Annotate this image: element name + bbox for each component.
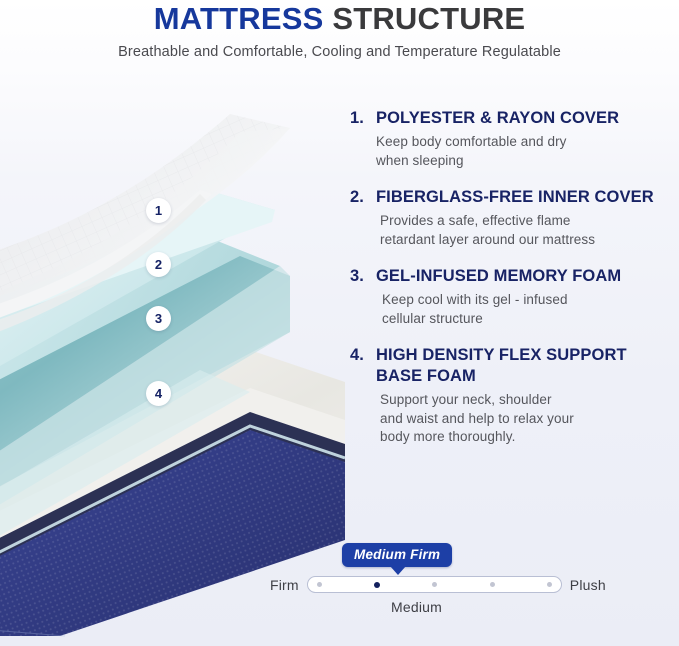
feature-title-3: GEL-INFUSED MEMORY FOAM bbox=[376, 266, 670, 287]
feature-desc-line: and waist and help to relax your bbox=[380, 410, 670, 429]
page-subtitle: Breathable and Comfortable, Cooling and … bbox=[0, 37, 679, 60]
firmness-step-2[interactable] bbox=[374, 582, 380, 588]
firmness-badge-pointer-icon bbox=[390, 566, 406, 575]
feature-title-2: FIBERGLASS-FREE INNER COVER bbox=[376, 187, 670, 208]
firmness-step-5[interactable] bbox=[547, 582, 552, 587]
feature-heading-4: 4. HIGH DENSITY FLEX SUPPORT BASE FOAM bbox=[350, 345, 670, 387]
feature-desc-line: cellular structure bbox=[382, 310, 670, 329]
feature-item-2: 2. FIBERGLASS-FREE INNER COVER Provides … bbox=[350, 187, 670, 249]
feature-heading-1: 1. POLYESTER & RAYON COVER bbox=[350, 108, 670, 129]
feature-list: 1. POLYESTER & RAYON COVER Keep body com… bbox=[350, 108, 670, 464]
firmness-current-label: Medium Firm bbox=[342, 543, 452, 567]
feature-title-4: HIGH DENSITY FLEX SUPPORT BASE FOAM bbox=[376, 345, 670, 387]
firmness-step-1[interactable] bbox=[317, 582, 322, 587]
page-title-rest: STRUCTURE bbox=[324, 1, 526, 36]
firmness-slider-row: Firm Plush bbox=[270, 576, 606, 593]
feature-number-3: 3. bbox=[350, 266, 376, 287]
firmness-step-3[interactable] bbox=[432, 582, 437, 587]
page-title: MATTRESS STRUCTURE bbox=[0, 0, 679, 37]
feature-heading-3: 3. GEL-INFUSED MEMORY FOAM bbox=[350, 266, 670, 287]
feature-desc-line: Provides a safe, effective flame bbox=[380, 212, 670, 231]
layer-badge-3: 3 bbox=[146, 306, 171, 331]
feature-desc-line: when sleeping bbox=[376, 152, 670, 171]
feature-description-4: Support your neck, shoulder and waist an… bbox=[376, 391, 670, 447]
feature-number-1: 1. bbox=[350, 108, 376, 129]
feature-title-1: POLYESTER & RAYON COVER bbox=[376, 108, 670, 129]
feature-item-4: 4. HIGH DENSITY FLEX SUPPORT BASE FOAM S… bbox=[350, 345, 670, 447]
page-title-highlight: MATTRESS bbox=[154, 1, 324, 36]
layer-badge-2: 2 bbox=[146, 252, 171, 277]
firmness-scale: Medium Firm Firm Plush Medium bbox=[270, 543, 650, 623]
feature-desc-line: Keep cool with its gel - infused bbox=[382, 291, 670, 310]
feature-desc-line: Support your neck, shoulder bbox=[380, 391, 670, 410]
layer-badge-1: 1 bbox=[146, 198, 171, 223]
feature-desc-line: retardant layer around our mattress bbox=[380, 231, 670, 250]
feature-description-2: Provides a safe, effective flame retarda… bbox=[376, 212, 670, 249]
firmness-slider-track[interactable] bbox=[307, 576, 562, 593]
feature-item-1: 1. POLYESTER & RAYON COVER Keep body com… bbox=[350, 108, 670, 170]
firmness-label-plush: Plush bbox=[570, 577, 606, 593]
firmness-label-firm: Firm bbox=[270, 577, 299, 593]
feature-desc-line: body more thoroughly. bbox=[380, 428, 670, 447]
feature-heading-2: 2. FIBERGLASS-FREE INNER COVER bbox=[350, 187, 670, 208]
firmness-current-badge: Medium Firm bbox=[342, 543, 452, 567]
feature-desc-line: Keep body comfortable and dry bbox=[376, 133, 670, 152]
firmness-label-medium: Medium bbox=[270, 599, 563, 615]
feature-description-3: Keep cool with its gel - infused cellula… bbox=[376, 291, 670, 328]
feature-number-2: 2. bbox=[350, 187, 376, 208]
header: MATTRESS STRUCTURE Breathable and Comfor… bbox=[0, 0, 679, 68]
feature-description-1: Keep body comfortable and dry when sleep… bbox=[376, 133, 670, 170]
firmness-step-4[interactable] bbox=[490, 582, 495, 587]
feature-number-4: 4. bbox=[350, 345, 376, 366]
layer-badge-4: 4 bbox=[146, 381, 171, 406]
feature-item-3: 3. GEL-INFUSED MEMORY FOAM Keep cool wit… bbox=[350, 266, 670, 328]
page-root: MATTRESS STRUCTURE Breathable and Comfor… bbox=[0, 0, 679, 646]
